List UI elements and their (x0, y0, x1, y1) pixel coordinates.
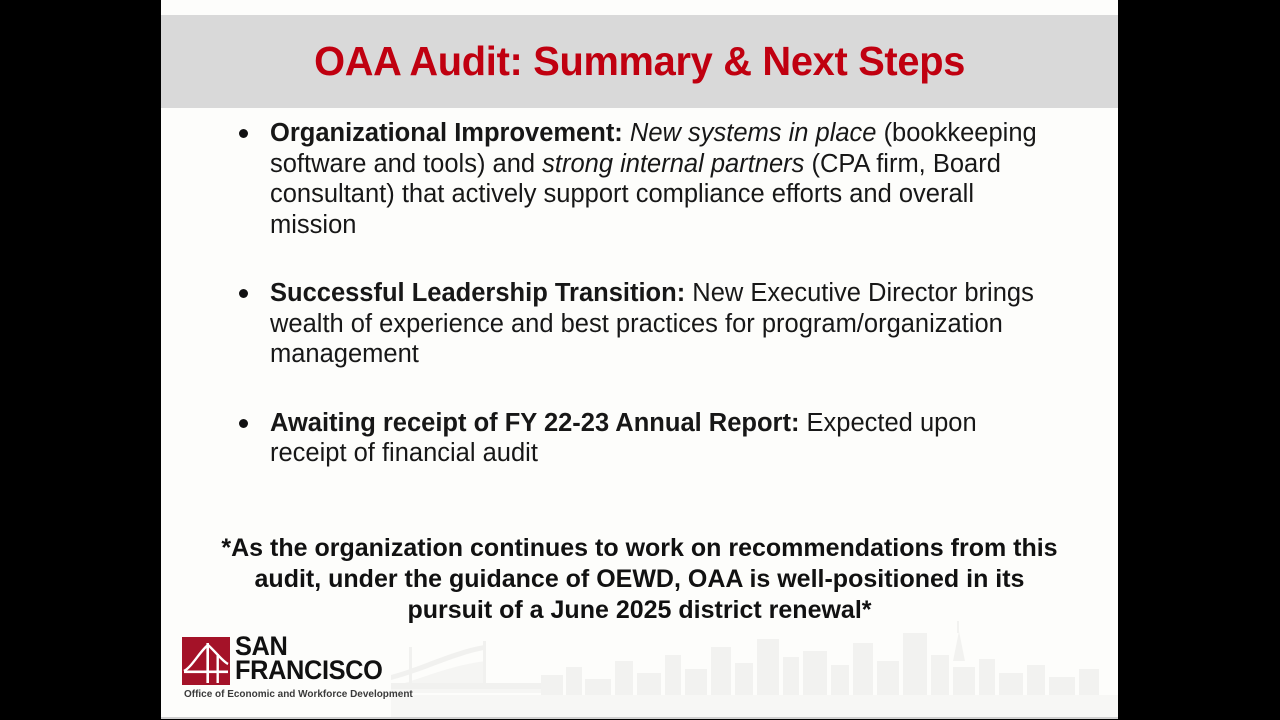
bullet-dot-icon (239, 129, 248, 138)
sf-logo-line2: FRANCISCO (235, 659, 382, 683)
sf-logo-wordmark: SAN FRANCISCO (235, 635, 392, 683)
slide-top-strip (161, 0, 1118, 15)
bullet-lead-label: Awaiting receipt of FY 22-23 Annual Repo… (270, 409, 799, 437)
page-title: OAA Audit: Summary & Next Steps (314, 38, 965, 85)
bullet-list: Organizational Improvement: New systems … (161, 118, 1118, 507)
bullet-dot-icon (239, 419, 248, 428)
bullet-lead-label: Organizational Improvement: (270, 119, 623, 147)
sf-oewd-logo: SAN FRANCISCO Office of Economic and Wor… (182, 637, 412, 709)
slide-viewer: OAA Audit: Summary & Next Steps Organiza… (0, 0, 1280, 720)
letterbox-right (1118, 0, 1280, 720)
letterbox-left (0, 0, 161, 720)
bullet-lead-label: Successful Leadership Transition: (270, 279, 685, 307)
sf-logo-tagline: Office of Economic and Workforce Develop… (184, 688, 413, 700)
list-item: Successful Leadership Transition: New Ex… (161, 278, 1118, 370)
slide-body: Organizational Improvement: New systems … (161, 108, 1118, 717)
bullet-dot-icon (239, 289, 248, 298)
list-item: Awaiting receipt of FY 22-23 Annual Repo… (161, 408, 1118, 469)
bullet-segment: strong internal partners (542, 150, 804, 178)
slide-title-band: OAA Audit: Summary & Next Steps (161, 15, 1118, 108)
slide-footnote: *As the organization continues to work o… (221, 533, 1058, 626)
bullet-segment: New systems in place (623, 119, 877, 147)
list-item: Organizational Improvement: New systems … (161, 118, 1118, 240)
san-francisco-skyline-watermark (391, 617, 1118, 717)
golden-gate-bridge-icon (182, 637, 230, 685)
presentation-slide: OAA Audit: Summary & Next Steps Organiza… (161, 0, 1118, 719)
